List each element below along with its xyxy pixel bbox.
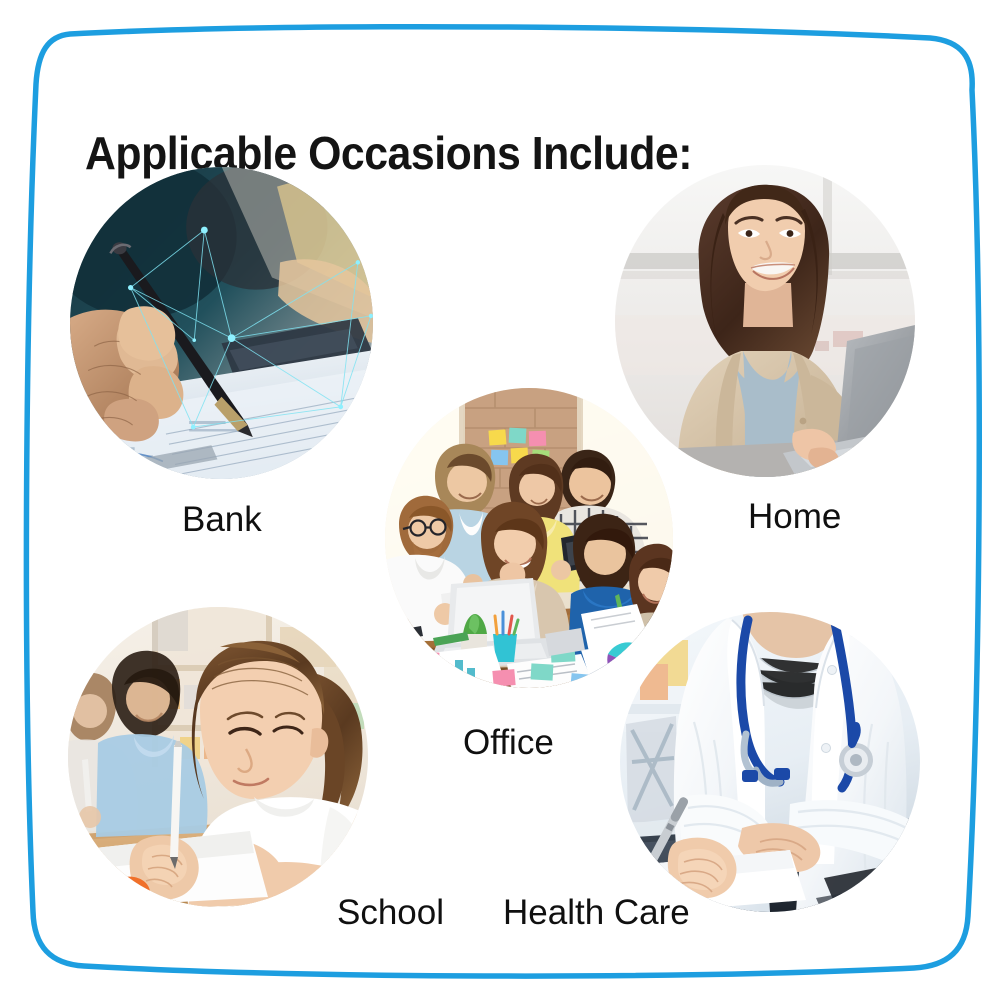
- occasion-label-health: Health Care: [503, 893, 690, 933]
- page-title: Applicable Occasions Include:: [85, 126, 692, 180]
- occasion-image-office: [385, 388, 673, 688]
- occasion-image-bank: [70, 167, 373, 479]
- occasion-label-school: School: [337, 893, 444, 933]
- occasion-label-bank: Bank: [182, 500, 262, 540]
- occasion-image-school: [68, 607, 368, 907]
- poster-canvas: Applicable Occasions Include:: [0, 0, 1000, 1000]
- occasion-label-home: Home: [748, 497, 841, 537]
- occasion-image-home: [615, 165, 915, 477]
- occasion-image-health: [620, 612, 920, 912]
- occasion-label-office: Office: [463, 723, 554, 763]
